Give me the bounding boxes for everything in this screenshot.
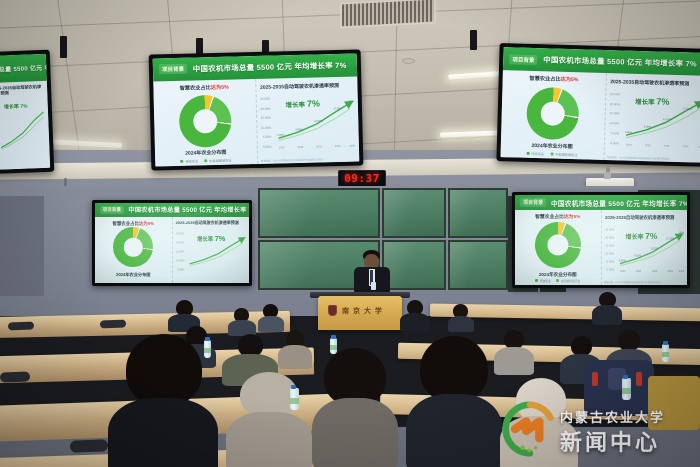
y-tick: 15.00% xyxy=(609,112,619,116)
lectern-podium: 南 京 大 学 xyxy=(318,296,402,330)
slide-title: 中国农机市场总量 5500 亿元 年均增长率 7% xyxy=(0,61,50,75)
data-label: 20% xyxy=(349,100,354,103)
x-tick: 2025 xyxy=(279,147,285,150)
y-tick: 0.00% xyxy=(607,269,614,272)
water-bottle xyxy=(204,340,211,358)
y-tick: 25.00% xyxy=(610,92,620,96)
legend-item: 传统农业 xyxy=(535,279,551,283)
audience-member-foreground xyxy=(108,334,218,467)
university-crest-icon xyxy=(328,305,337,316)
slide-center-tv: 项目背景 中国农机市场总量 5500 亿元 年均增长率 7% 智慧农业占比达为5… xyxy=(153,54,360,167)
watermark-department: 新闻中心 xyxy=(560,425,660,457)
growth-label: 增长率 xyxy=(286,102,306,109)
ceiling-tv-center: 项目背景 中国农机市场总量 5500 亿元 年均增长率 7% 智慧农业占比达为5… xyxy=(149,49,364,170)
hvac-vent-icon xyxy=(340,0,436,29)
lecture-hall-photo: 项目背景 中国农机市场总量 5500 亿元 年均增长率 7% 智慧农业占比达为5… xyxy=(0,0,700,467)
water-bottle xyxy=(662,344,669,362)
slide-right-tv: 项目背景 中国农机市场总量 5500 亿元 年均增长率 7% 智慧农业占比达为5… xyxy=(501,47,700,163)
data-label: 8.00% xyxy=(634,254,641,257)
x-tick: 2034 xyxy=(667,270,672,273)
chart-footnote: 数据来源: 《2025中国智能农业机械装备市场发展研究报告》 xyxy=(261,157,325,163)
data-label: 11.00% xyxy=(314,120,323,123)
growth-value: 7% xyxy=(20,103,27,109)
line-chart-heading: 2025-2035自动驾驶农机渗透率预测 xyxy=(0,85,45,97)
watermark-organization: 内蒙古农业大学 xyxy=(560,407,665,426)
water-bottle xyxy=(330,338,337,354)
slide-tag: 项目背景 xyxy=(520,198,546,207)
donut-heading: 智慧农业占比 xyxy=(180,85,211,92)
donut-heading-highlight: 达为5% xyxy=(139,221,154,226)
ceiling-tv-right: 项目背景 中国农机市场总量 5500 亿元 年均增长率 7% 智慧农业占比达为5… xyxy=(496,43,700,167)
growth-label: 增长率 xyxy=(4,104,19,111)
slide-left-tv: 项目背景 中国农机市场总量 5500 亿元 年均增长率 7% 智慧农业占比达为5… xyxy=(0,54,50,172)
donut-heading-highlight: 达为5% xyxy=(211,84,229,90)
line-chart-heading: 2025-2035自动驾驶农机渗透率预测 xyxy=(176,221,246,226)
donut-caption: 2024年农业分布图 xyxy=(95,272,172,278)
legend-item: 传统农业 xyxy=(526,151,544,156)
audience-member-foreground xyxy=(406,336,502,467)
donut-heading: 智慧农业占比 xyxy=(535,215,564,220)
x-tick: 2028 xyxy=(298,146,304,149)
y-tick: 25.00% xyxy=(260,97,270,101)
data-label: 8.00% xyxy=(644,125,651,128)
podium-label: 南 京 大 学 xyxy=(342,306,383,316)
chair-back xyxy=(8,322,34,331)
growth-value: 7% xyxy=(215,234,226,243)
donut-heading-highlight: 达为5% xyxy=(560,77,578,83)
chair-back xyxy=(0,371,30,382)
data-label: 5.00% xyxy=(277,134,284,137)
x-tick: 2035 xyxy=(349,145,355,148)
x-tick: 2031 xyxy=(664,145,670,148)
y-tick: 10.00% xyxy=(176,259,184,262)
broadcaster-watermark: 内蒙古农业大学 新闻中心 xyxy=(498,395,694,461)
data-label: 17.00% xyxy=(333,108,342,111)
data-label: 20% xyxy=(679,231,684,234)
slide-tag: 项目背景 xyxy=(100,206,124,214)
x-tick: 2025 xyxy=(620,270,625,273)
donut-caption: 2024年农业分布图 xyxy=(501,141,604,151)
y-tick: 20.00% xyxy=(176,241,184,244)
y-tick: 0.00% xyxy=(263,145,272,149)
projection-screen-right: 项目背景 中国农机市场总量 5500 亿元 年均增长率 7% 智慧农业占比达为5… xyxy=(512,192,690,288)
clock-time: 09:37 xyxy=(344,172,380,185)
audience-member-foreground xyxy=(226,372,312,467)
audience-member xyxy=(400,300,430,328)
x-tick: 2034 xyxy=(335,145,341,148)
y-tick: 20.00% xyxy=(260,106,270,110)
legend-item: 中高端智慧农业 xyxy=(204,158,231,164)
speaker-presenter xyxy=(352,250,392,298)
donut-heading-highlight: 达为5% xyxy=(564,215,581,220)
data-label: 11.00% xyxy=(663,118,672,121)
x-tick: 2028 xyxy=(636,270,641,273)
y-tick: 25.00% xyxy=(176,232,184,235)
news-center-logo-icon xyxy=(502,401,558,457)
legend-item: 中高端智慧农业 xyxy=(550,152,577,158)
slide-title: 中国农机市场总量 5500 亿元 年均增长率 7% xyxy=(543,54,697,69)
audience-member xyxy=(278,330,312,366)
growth-label: 增长率 xyxy=(197,237,213,243)
legend-item: 传统农业 xyxy=(180,159,198,164)
audience-member xyxy=(448,304,474,330)
y-tick: 10.00% xyxy=(605,252,614,255)
donut-caption: 2024年农业分布图 xyxy=(155,148,257,157)
audience-member xyxy=(258,304,284,330)
growth-label: 增长率 xyxy=(625,235,643,241)
growth-label: 增长率 xyxy=(635,99,655,107)
audience-member-foreground xyxy=(312,348,398,467)
wall-clock-display: 09:37 xyxy=(338,170,386,187)
x-tick: 2034 xyxy=(683,145,689,148)
data-label: 11.00% xyxy=(651,247,659,250)
name-badge xyxy=(371,282,376,290)
y-tick: 15.00% xyxy=(605,244,614,247)
donut-heading: 智慧农业占比 xyxy=(113,221,139,226)
x-tick: 2035 xyxy=(679,270,684,273)
y-tick: 5.00% xyxy=(611,131,620,135)
ceiling-tv-left: 项目背景 中国农机市场总量 5500 亿元 年均增长率 7% 智慧农业占比达为5… xyxy=(0,50,54,177)
chart-footnote: 数据来源: 《2025中国智能农业机械装备市场发展研究报告》 xyxy=(607,155,671,161)
y-tick: 20.00% xyxy=(605,236,614,239)
audience-member xyxy=(168,300,200,328)
data-label: 5.00% xyxy=(625,131,632,134)
y-tick: 25.00% xyxy=(605,228,614,231)
side-wall-panel xyxy=(0,196,44,296)
x-tick: 2028 xyxy=(645,144,651,147)
y-tick: 15.00% xyxy=(176,250,184,253)
donut-heading: 智慧农业占比 xyxy=(529,76,560,83)
tv-mount-pole xyxy=(196,38,203,54)
slide-title: 中国农机市场总量 5500 亿元 年均增长率 7% xyxy=(128,205,249,214)
slide-tag: 项目背景 xyxy=(159,64,187,75)
smoke-detector-icon xyxy=(402,58,415,64)
y-tick: 5.00% xyxy=(263,135,272,139)
slide-projection-left: 项目背景 中国农机市场总量 5500 亿元 年均增长率 7% 智慧农业占比达为5… xyxy=(95,203,249,283)
growth-value: 7% xyxy=(307,99,320,109)
data-label: 17.00% xyxy=(666,237,674,240)
data-label: 5.00% xyxy=(619,259,626,262)
growth-value: 7% xyxy=(656,96,669,106)
audience-member xyxy=(228,308,256,334)
slide-title: 中国农机市场总量 5500 亿元 年均增长率 7% xyxy=(193,60,347,75)
water-bottle xyxy=(290,388,299,410)
line-chart-heading: 2025-2035自动驾驶农机渗透率预测 xyxy=(610,79,700,88)
x-tick: 2031 xyxy=(652,270,657,273)
y-tick: 5.00% xyxy=(177,268,184,271)
chart-footnote: 数据来源: 《2025中国智能农业机械装备市场发展研究报告》 xyxy=(604,280,663,284)
y-tick: 10.00% xyxy=(609,121,619,125)
y-tick: 20.00% xyxy=(610,102,620,106)
tv-mount-pole xyxy=(60,36,67,58)
line-chart-heading: 2025-2035自动驾驶农机渗透率预测 xyxy=(260,82,353,90)
slide-title: 中国农机市场总量 5500 亿元 年均增长率 7% xyxy=(551,198,687,208)
x-tick: 2025 xyxy=(626,144,632,147)
data-label: 8.00% xyxy=(295,128,302,131)
y-tick: 5.00% xyxy=(607,260,614,263)
slide-projection-right: 项目背景 中国农机市场总量 5500 亿元 年均增长率 7% 智慧农业占比达为5… xyxy=(515,195,687,285)
audience-member xyxy=(592,292,622,322)
growth-value: 7% xyxy=(645,231,657,241)
donut-caption: 2024年农业分布图 xyxy=(515,272,601,278)
chair-back xyxy=(70,439,108,452)
y-tick: 15.00% xyxy=(261,116,271,120)
projection-screen-left: 项目背景 中国农机市场总量 5500 亿元 年均增长率 7% 智慧农业占比达为5… xyxy=(92,200,252,286)
tv-mount-pole xyxy=(470,30,477,50)
legend-item: 中高端智慧农业 xyxy=(556,279,580,283)
x-tick: 2031 xyxy=(316,146,322,149)
slide-tag: 项目背景 xyxy=(509,54,537,65)
y-tick: 10.00% xyxy=(261,125,271,129)
data-label: 17.00% xyxy=(683,107,692,110)
y-tick: 0.00% xyxy=(610,141,619,145)
line-chart-heading: 2025-2035自动驾驶农机渗透率预测 xyxy=(605,215,684,220)
chair-back xyxy=(100,320,126,329)
